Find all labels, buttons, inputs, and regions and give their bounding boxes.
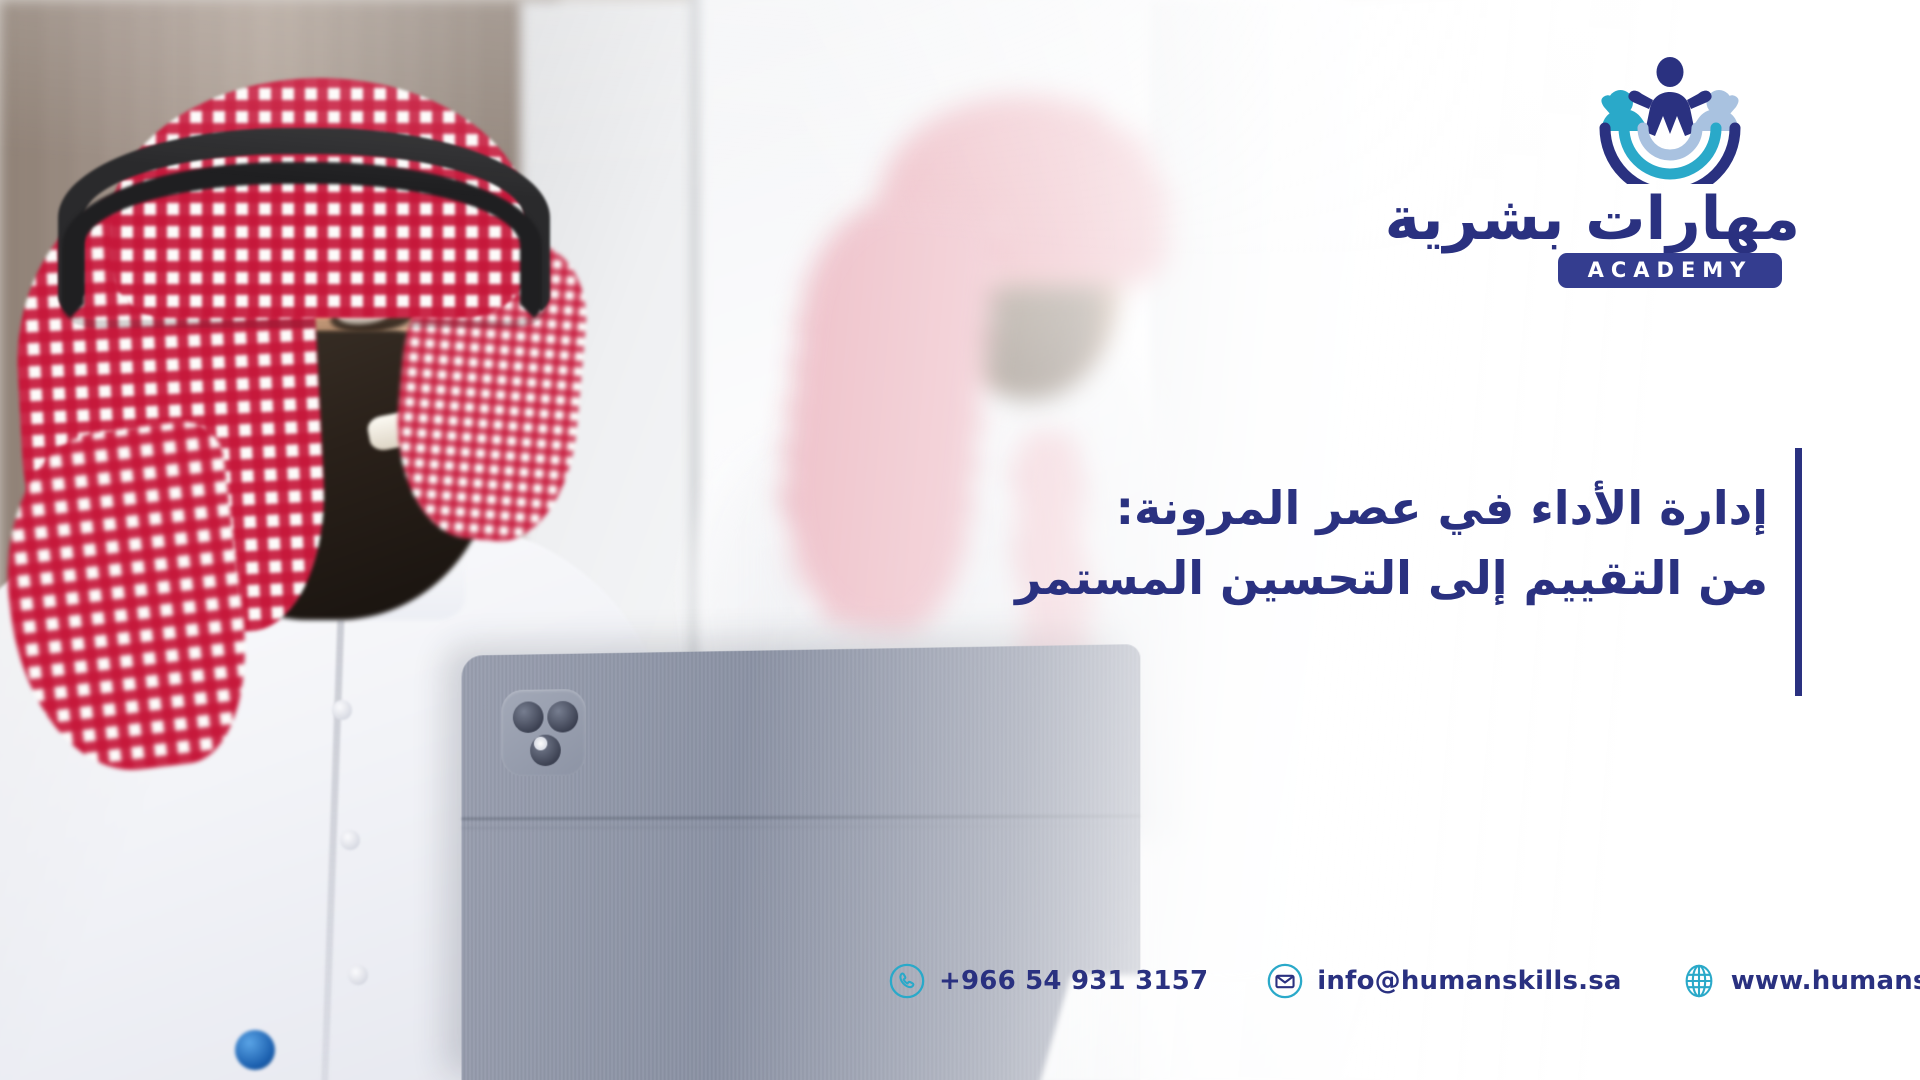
- headline-line-1: إدارة الأداء في عصر المرونة:: [1015, 474, 1768, 544]
- phone-circle-icon: [888, 962, 926, 1000]
- logo-arabic-name: مهارات بشرية: [1540, 188, 1800, 251]
- contact-phone-label: +966 54 931 3157: [939, 966, 1208, 996]
- globe-icon: [1680, 962, 1718, 1000]
- page-title: إدارة الأداء في عصر المرونة: من التقييم …: [1015, 474, 1768, 614]
- three-people-over-arcs-icon: [1595, 52, 1745, 184]
- logo-arcs: [1605, 128, 1735, 184]
- headline-line-2: من التقييم إلى التحسين المستمر: [1015, 544, 1768, 614]
- headline-vertical-rule: [1795, 448, 1802, 696]
- contact-email-label: info@humanskills.sa: [1317, 966, 1621, 996]
- contact-website-label: www.humanskills.sa: [1731, 966, 1920, 996]
- logo-academy-badge: ACADEMY: [1558, 253, 1783, 288]
- brand-logo[interactable]: مهارات بشرية ACADEMY: [1540, 52, 1800, 288]
- banner-root: مهارات بشرية ACADEMY إدارة الأداء في عصر…: [0, 0, 1920, 1080]
- contact-item-email[interactable]: info@humanskills.sa: [1266, 962, 1621, 1000]
- envelope-circle-icon: [1266, 962, 1304, 1000]
- contact-item-phone[interactable]: +966 54 931 3157: [888, 962, 1208, 1000]
- contact-item-website[interactable]: www.humanskills.sa: [1680, 962, 1920, 1000]
- contact-bar: +966 54 931 3157 info@humanskills.sa: [888, 962, 1920, 1000]
